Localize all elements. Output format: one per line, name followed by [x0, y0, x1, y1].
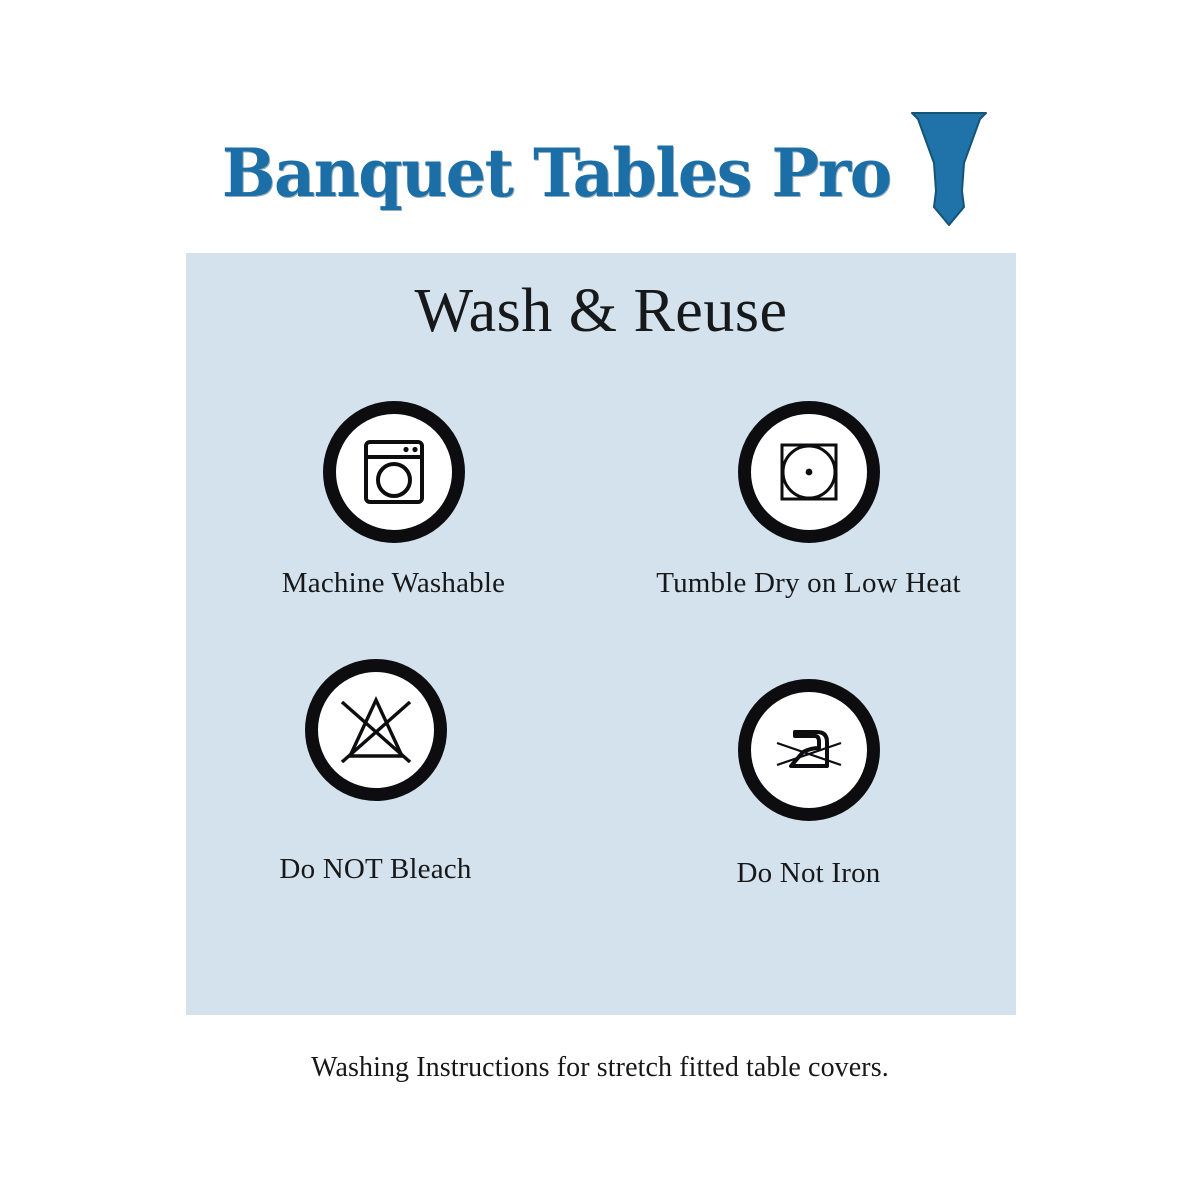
- footer-note: Washing Instructions for stretch fitted …: [0, 1052, 1200, 1084]
- care-instructions-page: Banquet Tables Pro Wash & Reuse: [0, 0, 1200, 1200]
- do-not-bleach-icon: [305, 659, 447, 801]
- care-symbol-label: Tumble Dry on Low Heat: [656, 567, 961, 600]
- do-not-iron-icon: [738, 679, 880, 821]
- tumble-dry-low-heat-icon: [738, 401, 880, 543]
- care-symbol-do-not-iron: Do Not Iron: [601, 679, 1016, 890]
- brand-header: Banquet Tables Pro: [0, 108, 1200, 238]
- care-symbol-label: Do Not Iron: [737, 857, 881, 890]
- care-symbol-tumble-dry: Tumble Dry on Low Heat: [601, 401, 1016, 600]
- care-symbol-label: Machine Washable: [282, 567, 505, 600]
- care-symbol-do-not-bleach: Do NOT Bleach: [168, 659, 583, 886]
- washing-machine-icon: [323, 401, 465, 543]
- care-symbol-grid: Machine Washable Tumble Dry on Low Heat: [186, 401, 1016, 961]
- brand-name: Banquet Tables Pro: [222, 140, 891, 206]
- care-symbol-label: Do NOT Bleach: [279, 853, 471, 886]
- care-symbol-machine-washable: Machine Washable: [186, 401, 601, 600]
- panel-title: Wash & Reuse: [186, 277, 1016, 345]
- cocktail-table-icon: [906, 107, 992, 236]
- instructions-panel: Wash & Reuse Machine Washable: [186, 253, 1016, 1015]
